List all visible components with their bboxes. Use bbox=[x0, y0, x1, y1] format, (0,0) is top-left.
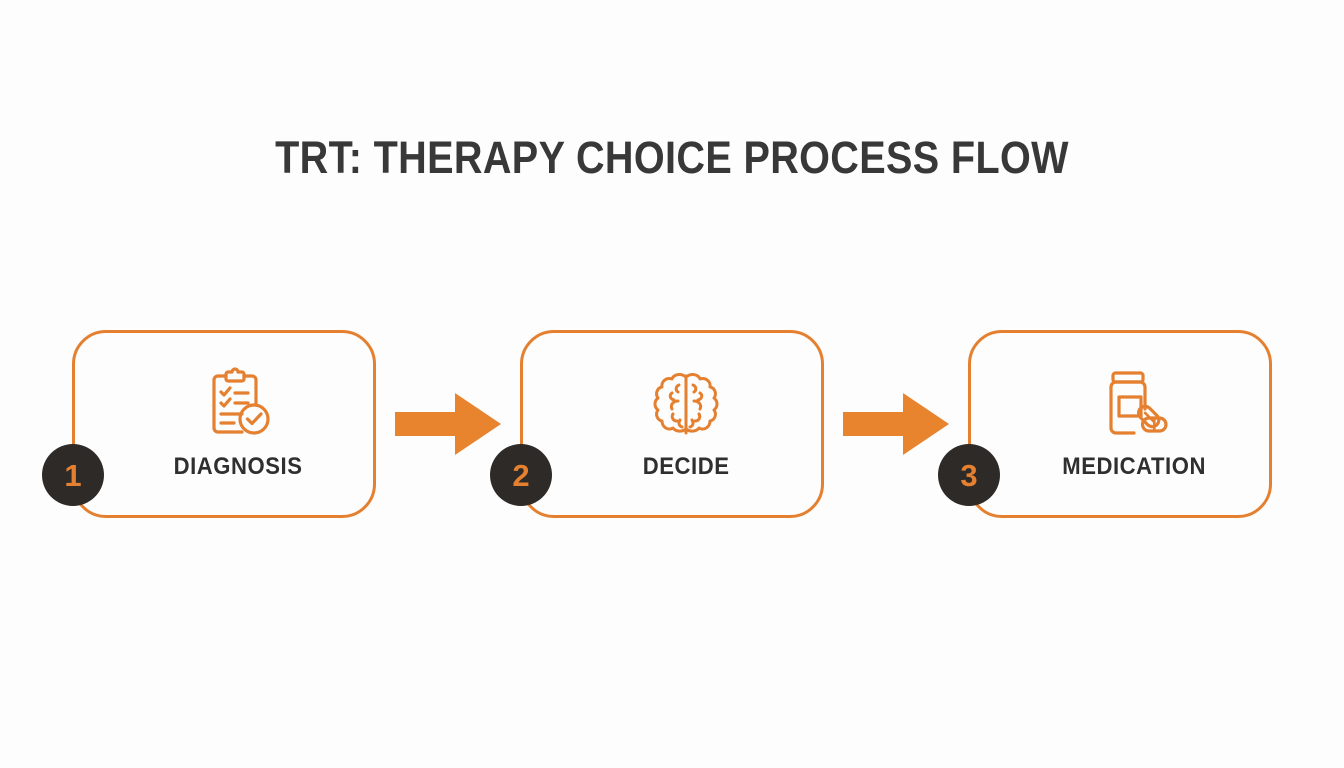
pill-bottle-icon bbox=[1097, 367, 1171, 441]
process-flow: 1 bbox=[72, 330, 1272, 518]
step-card-content: DIAGNOSIS bbox=[75, 367, 373, 481]
clipboard-check-icon bbox=[201, 367, 275, 441]
brain-icon bbox=[649, 367, 723, 441]
slide-canvas: TRT: THERAPY CHOICE PROCESS FLOW 1 bbox=[0, 0, 1344, 768]
step-label-medication: MEDICATION bbox=[1062, 453, 1206, 481]
step-card-diagnosis[interactable]: 1 bbox=[72, 330, 376, 518]
page-title: TRT: THERAPY CHOICE PROCESS FLOW bbox=[81, 132, 1264, 184]
step-label-diagnosis: DIAGNOSIS bbox=[174, 453, 303, 481]
step-badge-1: 1 bbox=[42, 444, 104, 506]
step-badge-2: 2 bbox=[490, 444, 552, 506]
arrow-right-icon bbox=[843, 393, 949, 455]
step-card-content: DECIDE bbox=[523, 367, 821, 481]
flow-connector-2 bbox=[824, 389, 968, 459]
step-label-decide: DECIDE bbox=[643, 453, 730, 481]
arrow-right-icon bbox=[395, 393, 501, 455]
step-card-decide[interactable]: 2 bbox=[520, 330, 824, 518]
step-card-content: MEDICATION bbox=[971, 367, 1269, 481]
step-badge-3: 3 bbox=[938, 444, 1000, 506]
step-card-medication[interactable]: 3 bbox=[968, 330, 1272, 518]
flow-connector-1 bbox=[376, 389, 520, 459]
